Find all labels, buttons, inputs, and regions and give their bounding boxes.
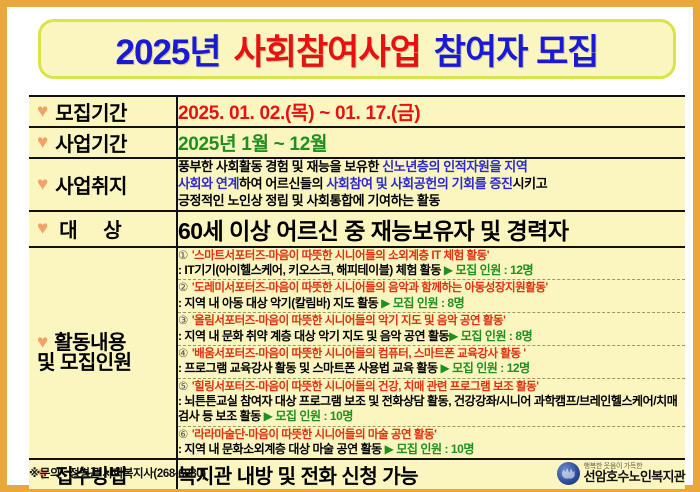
poster-title-banner: 2025년 사회참여사업 참여자 모집 xyxy=(38,19,676,79)
title-action: 참여자 모집 xyxy=(434,24,599,75)
water-lake-logo-icon xyxy=(557,462,580,485)
label-text: 사업기간 xyxy=(55,128,127,157)
activity-number: ⑤ xyxy=(178,381,192,393)
logo-organization-name: 선암호수노인복지관 xyxy=(584,470,685,484)
activity-recruit-count: ▶ 모집 인원 : 12명 xyxy=(440,361,529,375)
activity-number: ④ xyxy=(178,348,192,360)
purpose-line: 사회와 연계하여 어르신들의 사회참여 및 사회공헌의 기회를 증진시키고 xyxy=(178,176,681,193)
activity-description-text: : 뇌튼튼교실 참여자 대상 프로그램 보조 및 전화상담 활동, 건강강좌/시… xyxy=(178,394,677,423)
activity-title-text: '올림서포터즈-마음이 따뜻한 시니어들의 악기 지도 및 음악 공연 활동' xyxy=(192,315,506,327)
heart-icon: ♥ xyxy=(37,175,48,194)
row-value-purpose: 풍부한 사회활동 경험 및 재능을 보유한 신노년층의 인적자원을 지역사회와 … xyxy=(177,158,685,211)
heart-icon: ♥ xyxy=(37,333,48,352)
purpose-text-run: 풍부한 사회활동 경험 및 재능을 보유한 xyxy=(178,159,382,174)
activity-recruit-count: ▶ 모집 인원 : 10명 xyxy=(264,409,353,423)
activity-title-line: ⑥'라라마술단-마음이 따뜻한 시니어들의 마술 공연 활동' xyxy=(178,428,685,442)
project-period-value: 2025년 1월 ~ 12월 xyxy=(178,134,327,155)
activity-title-text: '힐링서포터즈-마음이 따뜻한 시니어들의 건강, 치매 관련 프로그램 보조 … xyxy=(192,381,539,393)
row-value-target: 60세 이상 어르신 중 재능보유자 및 경력자 xyxy=(177,211,685,247)
row-label-recruit-period: ♥ 모집기간 xyxy=(29,96,177,127)
activity-description-text: : 지역 내 아동 대상 악기(칼림바) 지도 활동 xyxy=(178,296,381,310)
activity-description-text: : 지역 내 문화소외계층 대상 마술 공연 활동 xyxy=(178,442,385,456)
activity-description-text: : IT기기(아이헬스케어, 키오스크, 해피테이블) 체험 활동 xyxy=(178,263,444,277)
label-text: 대 상 xyxy=(55,214,131,243)
row-value-project-period: 2025년 1월 ~ 12월 xyxy=(177,127,685,158)
activity-description: : IT기기(아이헬스케어, 키오스크, 해피테이블) 체험 활동 ▶ 모집 인… xyxy=(178,263,685,278)
activity-recruit-count: ▶ 모집 인원 : 8명 xyxy=(381,296,464,310)
target-value: 60세 이상 어르신 중 재능보유자 및 경력자 xyxy=(178,218,568,244)
logo-text-block: 행복한 웃음이 가득한 선암호수노인복지관 xyxy=(584,463,685,484)
activity-item: ③'올림서포터즈-마음이 따뜻한 시니어들의 악기 지도 및 음악 공연 활동'… xyxy=(178,313,685,346)
row-label-target: ♥ 대 상 xyxy=(29,211,177,247)
purpose-text-run: 신노년층의 인적자원을 지역 xyxy=(382,159,527,174)
activity-item: ⑥'라라마술단-마음이 따뜻한 시니어들의 마술 공연 활동': 지역 내 문화… xyxy=(178,427,685,459)
activity-title-text: '스마트서포터즈-마음이 따뜻한 시니어들의 소외계층 IT 체험 활동' xyxy=(192,250,489,262)
activity-item: ①'스마트서포터즈-마음이 따뜻한 시니어들의 소외계층 IT 체험 활동': … xyxy=(178,248,685,281)
purpose-text-run: 시키고 xyxy=(513,176,548,191)
label-text: 사업취지 xyxy=(55,170,127,199)
purpose-line: 풍부한 사회활동 경험 및 재능을 보유한 신노년층의 인적자원을 지역 xyxy=(178,159,681,176)
activity-description: : 지역 내 문화 취약 계층 대상 악기 지도 및 음악 공연 활동▶ 모집 … xyxy=(178,329,685,344)
activity-title-line: ④'배움서포터즈-마음이 따뜻한 시니어들의 컴퓨터, 스마트폰 교육강사 활동… xyxy=(178,347,685,361)
purpose-text-run: 긍정적인 노인상 정립 및 사회통합에 기여하는 활동 xyxy=(178,193,440,208)
activity-number: ⑥ xyxy=(178,429,192,441)
activity-number: ② xyxy=(178,282,192,294)
activity-title-line: ①'스마트서포터즈-마음이 따뜻한 시니어들의 소외계층 IT 체험 활동' xyxy=(178,249,685,263)
purpose-text-run: 하여 어르신들의 xyxy=(239,176,326,191)
activity-recruit-count: ▶ 모집 인원 : 8명 xyxy=(449,329,532,343)
table-row-activities: ♥ 활동내용 및 모집인원 ①'스마트서포터즈-마음이 따뜻한 시니어들의 소외… xyxy=(29,247,685,460)
contact-info: ※문의 : 정병곤 사회복지사(268-6080) xyxy=(29,465,206,481)
activity-title-line: ②'도레미서포터즈-마음이 따뜻한 시니어들의 음악과 함께하는 아동성장지원활… xyxy=(178,281,685,295)
poster-container: 2025년 사회참여사업 참여자 모집 ♥ 모집기간 2025. 01. 02.… xyxy=(0,0,700,492)
activity-description: : 프로그램 교육강사 활동 및 스마트폰 사용법 교육 활동 ▶ 모집 인원 … xyxy=(178,361,685,376)
title-program: 사회참여사업 xyxy=(234,24,421,75)
activity-item: ⑤'힐링서포터즈-마음이 따뜻한 시니어들의 건강, 치매 관련 프로그램 보조… xyxy=(178,379,685,427)
table-row-target: ♥ 대 상 60세 이상 어르신 중 재능보유자 및 경력자 xyxy=(29,211,685,247)
activity-title-line: ⑤'힐링서포터즈-마음이 따뜻한 시니어들의 건강, 치매 관련 프로그램 보조… xyxy=(178,380,685,394)
label-text-line2: 및 모집인원 xyxy=(37,353,132,373)
purpose-text-run: 사회참여 및 사회공헌의 기회를 증진 xyxy=(326,176,512,191)
activity-description-text: : 프로그램 교육강사 활동 및 스마트폰 사용법 교육 활동 xyxy=(178,361,440,375)
purpose-text-run: 사회와 연계 xyxy=(178,176,239,191)
row-value-activities: ①'스마트서포터즈-마음이 따뜻한 시니어들의 소외계층 IT 체험 활동': … xyxy=(177,247,685,460)
activity-description: : 지역 내 아동 대상 악기(칼림바) 지도 활동 ▶ 모집 인원 : 8명 xyxy=(178,296,685,311)
heart-icon: ♥ xyxy=(37,133,48,152)
table-row-recruit-period: ♥ 모집기간 2025. 01. 02.(목) ~ 01. 17.(금) xyxy=(29,96,685,127)
activity-list: ①'스마트서포터즈-마음이 따뜻한 시니어들의 소외계층 IT 체험 활동': … xyxy=(178,248,685,459)
activity-item: ②'도레미서포터즈-마음이 따뜻한 시니어들의 음악과 함께하는 아동성장지원활… xyxy=(178,280,685,313)
row-label-activities: ♥ 활동내용 및 모집인원 xyxy=(29,247,177,460)
recruit-period-value: 2025. 01. 02.(목) ~ 01. 17.(금) xyxy=(178,103,420,124)
organization-logo: 행복한 웃음이 가득한 선암호수노인복지관 xyxy=(557,462,685,485)
table-row-purpose: ♥ 사업취지 풍부한 사회활동 경험 및 재능을 보유한 신노년층의 인적자원을… xyxy=(29,158,685,211)
table-row-project-period: ♥ 사업기간 2025년 1월 ~ 12월 xyxy=(29,127,685,158)
activity-number: ③ xyxy=(178,315,192,327)
activity-title-text: '라라마술단-마음이 따뜻한 시니어들의 마술 공연 활동' xyxy=(192,429,437,441)
heart-icon: ♥ xyxy=(37,102,48,121)
activity-number: ① xyxy=(178,250,192,262)
row-value-recruit-period: 2025. 01. 02.(목) ~ 01. 17.(금) xyxy=(177,96,685,127)
info-table: ♥ 모집기간 2025. 01. 02.(목) ~ 01. 17.(금) ♥ 사… xyxy=(29,95,685,489)
activity-recruit-count: ▶ 모집 인원 : 10명 xyxy=(385,442,474,456)
purpose-line: 긍정적인 노인상 정립 및 사회통합에 기여하는 활동 xyxy=(178,193,681,210)
row-label-project-period: ♥ 사업기간 xyxy=(29,127,177,158)
heart-icon: ♥ xyxy=(37,219,48,238)
poster-footer: ※문의 : 정병곤 사회복지사(268-6080) 행복한 웃음이 가득한 선암… xyxy=(29,459,685,487)
row-label-purpose: ♥ 사업취지 xyxy=(29,158,177,211)
label-text-line1: 활동내용 xyxy=(54,333,126,353)
purpose-paragraph: 풍부한 사회활동 경험 및 재능을 보유한 신노년층의 인적자원을 지역사회와 … xyxy=(178,159,685,210)
title-year: 2025년 xyxy=(116,24,221,75)
activity-description: : 뇌튼튼교실 참여자 대상 프로그램 보조 및 전화상담 활동, 건강강좌/시… xyxy=(178,394,685,425)
label-text: 모집기간 xyxy=(55,97,127,126)
activity-description: : 지역 내 문화소외계층 대상 마술 공연 활동 ▶ 모집 인원 : 10명 xyxy=(178,442,685,457)
activity-recruit-count: ▶ 모집 인원 : 12명 xyxy=(444,263,533,277)
activity-title-text: '배움서포터즈-마음이 따뜻한 시니어들의 컴퓨터, 스마트폰 교육강사 활동 … xyxy=(192,348,526,360)
activity-title-text: '도레미서포터즈-마음이 따뜻한 시니어들의 음악과 함께하는 아동성장지원활동… xyxy=(192,282,548,294)
activity-title-line: ③'올림서포터즈-마음이 따뜻한 시니어들의 악기 지도 및 음악 공연 활동' xyxy=(178,314,685,328)
activity-item: ④'배움서포터즈-마음이 따뜻한 시니어들의 컴퓨터, 스마트폰 교육강사 활동… xyxy=(178,346,685,379)
activity-description-text: : 지역 내 문화 취약 계층 대상 악기 지도 및 음악 공연 활동 xyxy=(178,329,449,343)
